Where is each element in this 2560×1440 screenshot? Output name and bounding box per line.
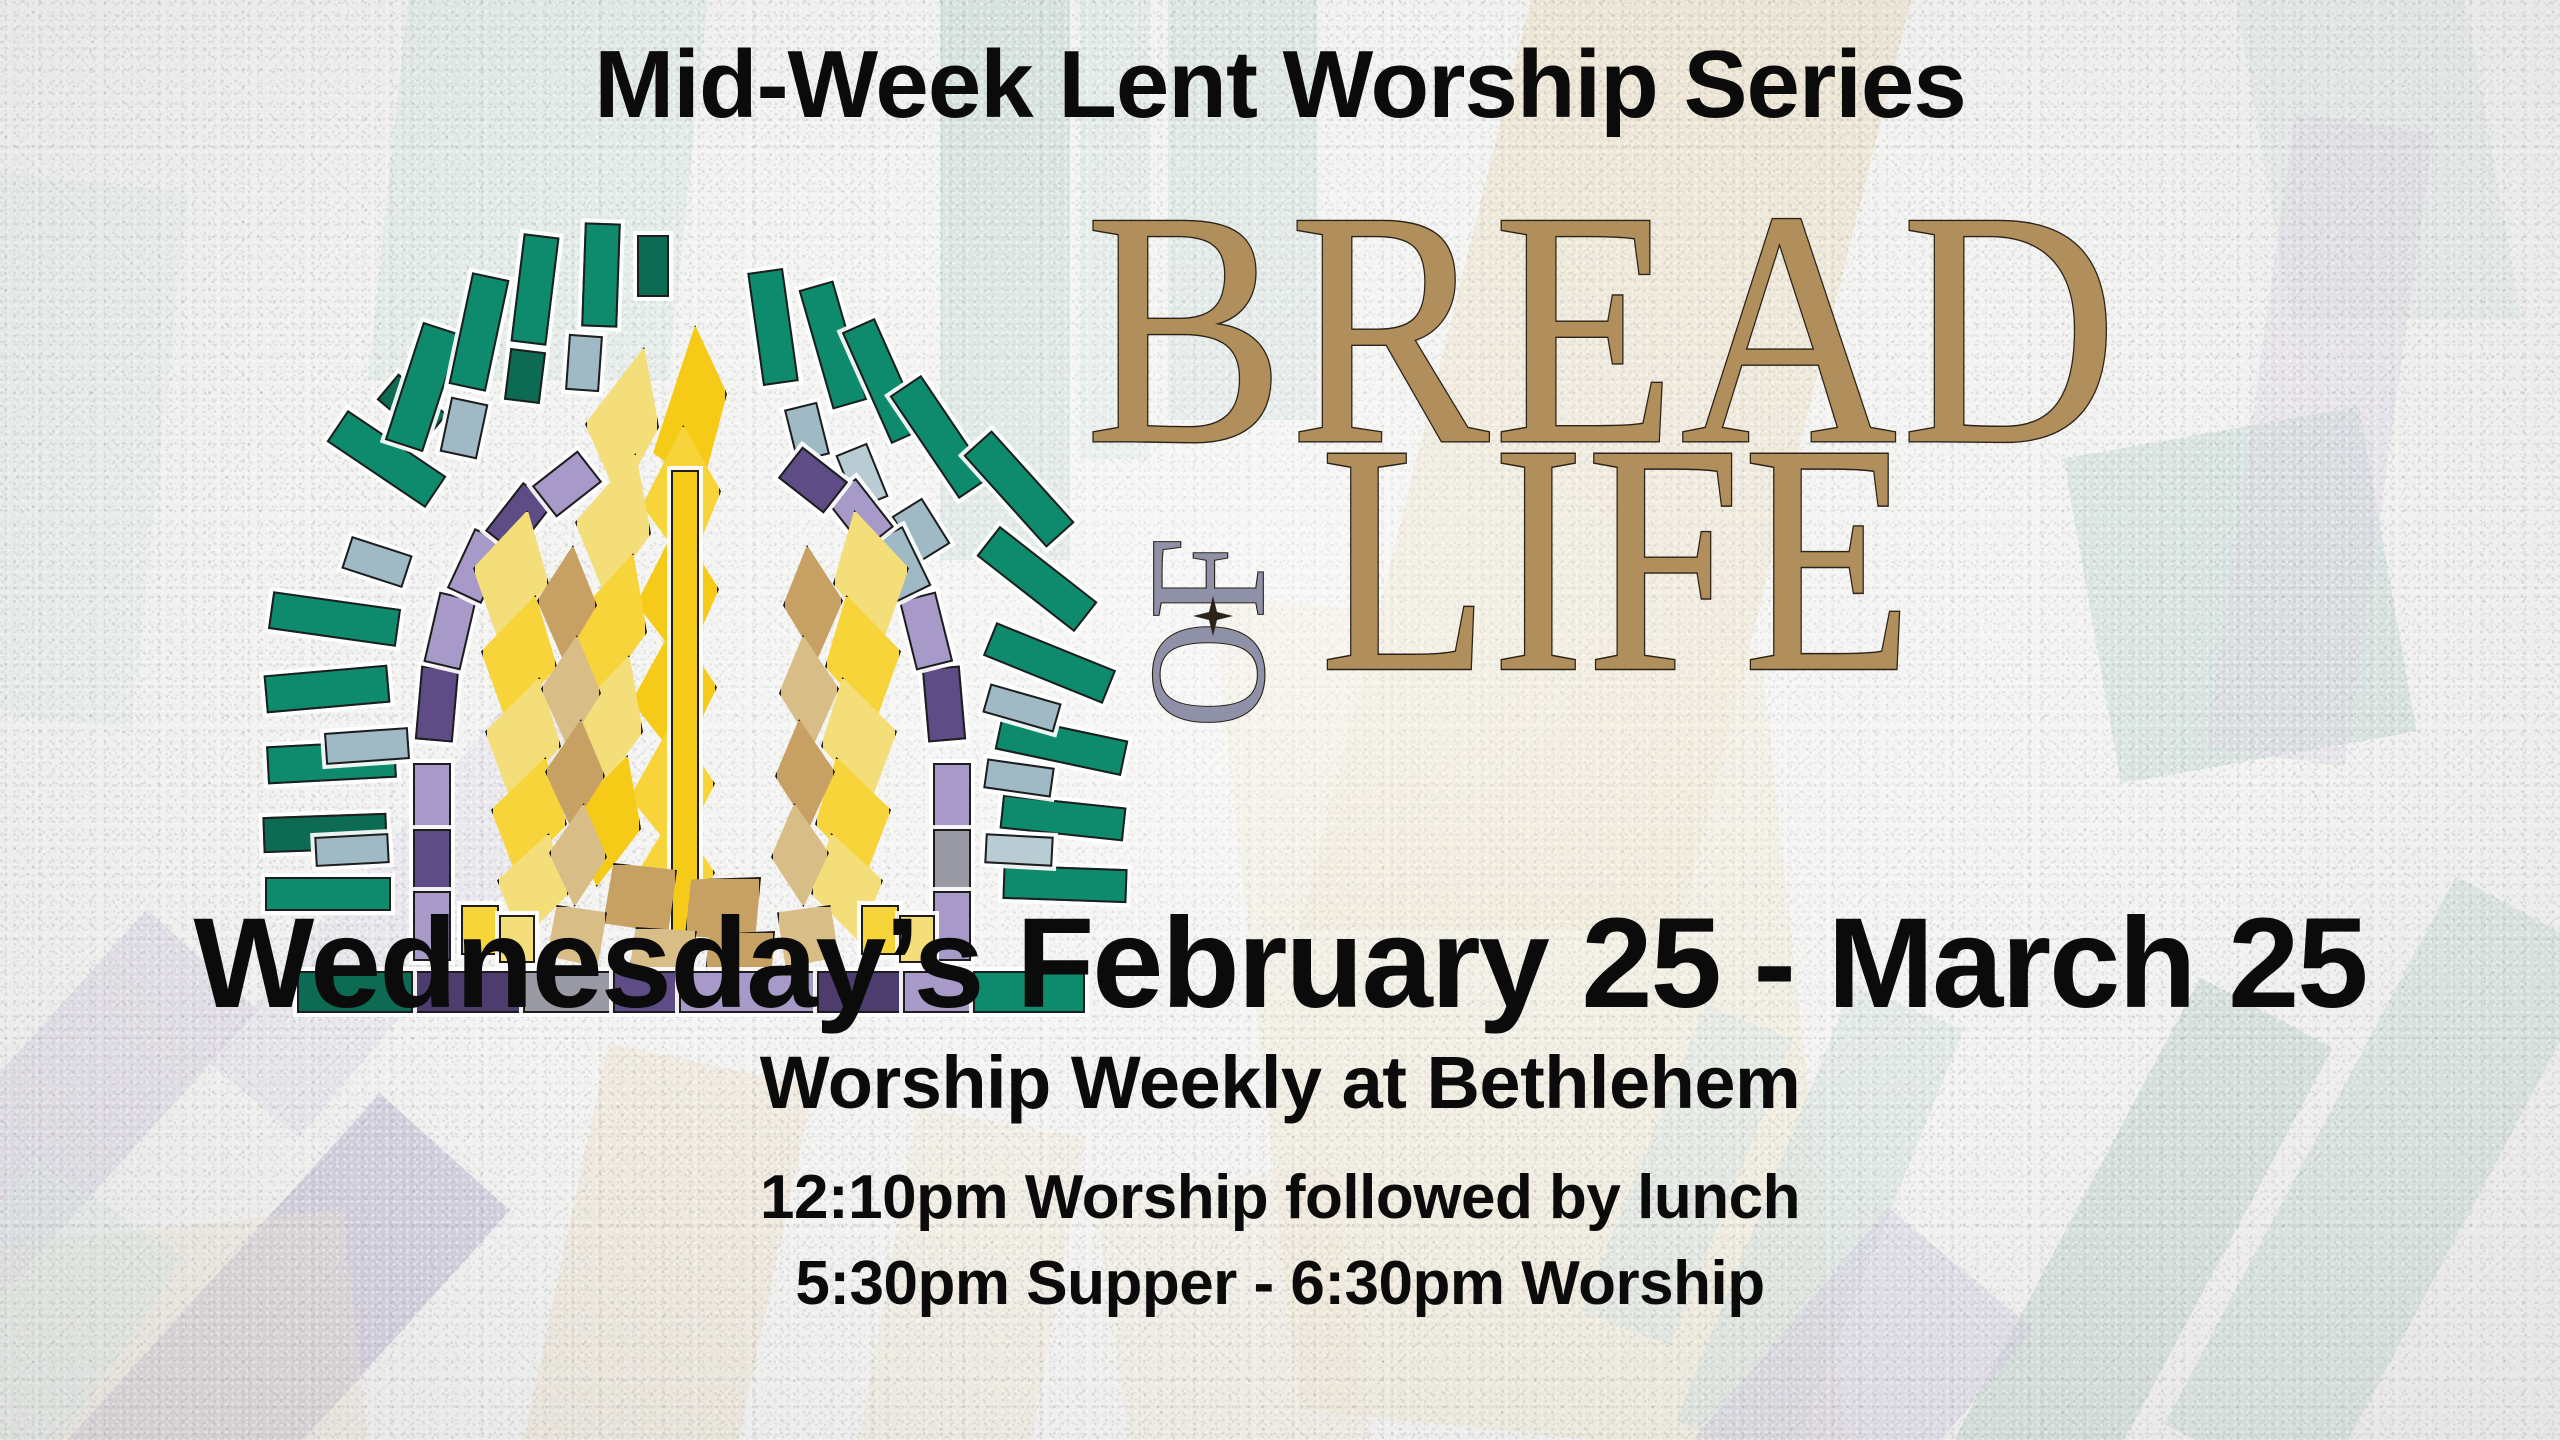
mosaic-ray — [341, 536, 412, 588]
mosaic-arch-brick — [413, 763, 451, 833]
logo-of-emblem: OF — [1125, 460, 1325, 730]
mosaic-ray — [747, 268, 799, 386]
mosaic-arch-brick — [415, 665, 459, 742]
bg-shape-mint-farleft — [0, 171, 188, 729]
mosaic-ray — [983, 758, 1055, 797]
page-title: Mid-Week Lent Worship Series — [0, 30, 2560, 140]
mosaic-arch-brick — [899, 591, 953, 670]
subtitle-line: Worship Weekly at Bethlehem — [0, 1040, 2560, 1125]
mosaic-ray — [314, 833, 389, 867]
mosaic-arch-brick — [933, 829, 971, 897]
lent-worship-series-poster: BREAD OF LIFE Mid-Week Lent Worship Seri… — [0, 0, 2560, 1440]
bread-of-life-logotype: BREAD OF LIFE — [1085, 160, 2475, 580]
mosaic-ray — [581, 222, 621, 327]
mosaic-ray — [268, 591, 401, 647]
mosaic-wheat-stalk — [671, 470, 699, 934]
mosaic-arch-brick — [933, 763, 971, 833]
schedule-line-one: 12:10pm Worship followed by lunch — [0, 1162, 2560, 1233]
logo-word-life: LIFE — [1320, 395, 1915, 723]
mosaic-ray — [324, 727, 410, 765]
schedule-line-two: 5:30pm Supper - 6:30pm Worship — [0, 1248, 2560, 1319]
mosaic-ray — [984, 833, 1053, 867]
mosaic-arch-brick — [413, 829, 451, 897]
mosaic-ray — [565, 334, 603, 392]
mosaic-ray — [440, 397, 489, 460]
mosaic-ray — [449, 272, 510, 391]
mosaic-wheat-arch-icon — [285, 215, 1105, 915]
mosaic-arch-brick — [423, 592, 476, 671]
mosaic-ray — [504, 348, 546, 404]
mosaic-ray — [637, 235, 669, 297]
mosaic-ray — [510, 233, 559, 346]
logo-word-of: OF — [1125, 535, 1291, 728]
date-range-line: Wednesday’s February 25 - March 25 — [0, 890, 2560, 1037]
mosaic-arch-brick — [922, 665, 966, 742]
mosaic-ray — [976, 526, 1097, 632]
mosaic-ray — [963, 430, 1074, 548]
